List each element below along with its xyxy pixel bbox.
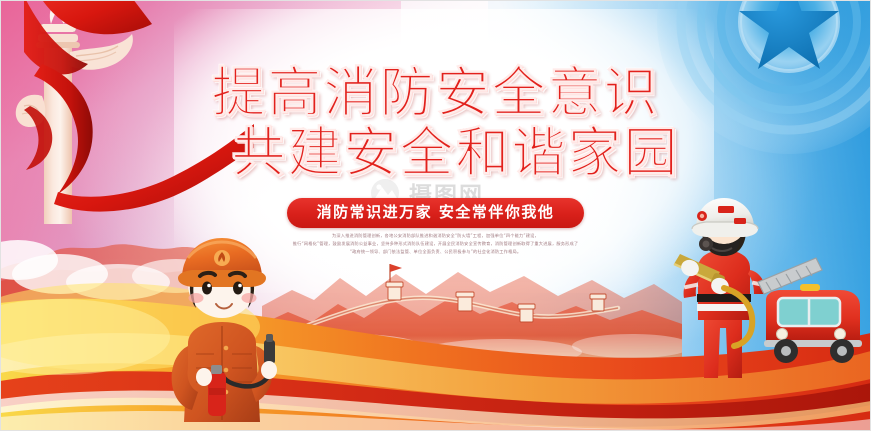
hose-nozzle <box>264 334 275 364</box>
fire-engine <box>756 252 866 370</box>
blue-star-ripple-emblem <box>649 0 871 184</box>
subtitle-text: 消防常识进万家 安全常伴你我他 <box>287 198 585 228</box>
chibi-firefighter-character <box>152 222 302 431</box>
fire-safety-poster: 摄图网 提高消防安全意识 共建安全和谐家园 消防常识进万家 安全常伴你我他 为深… <box>0 0 871 431</box>
